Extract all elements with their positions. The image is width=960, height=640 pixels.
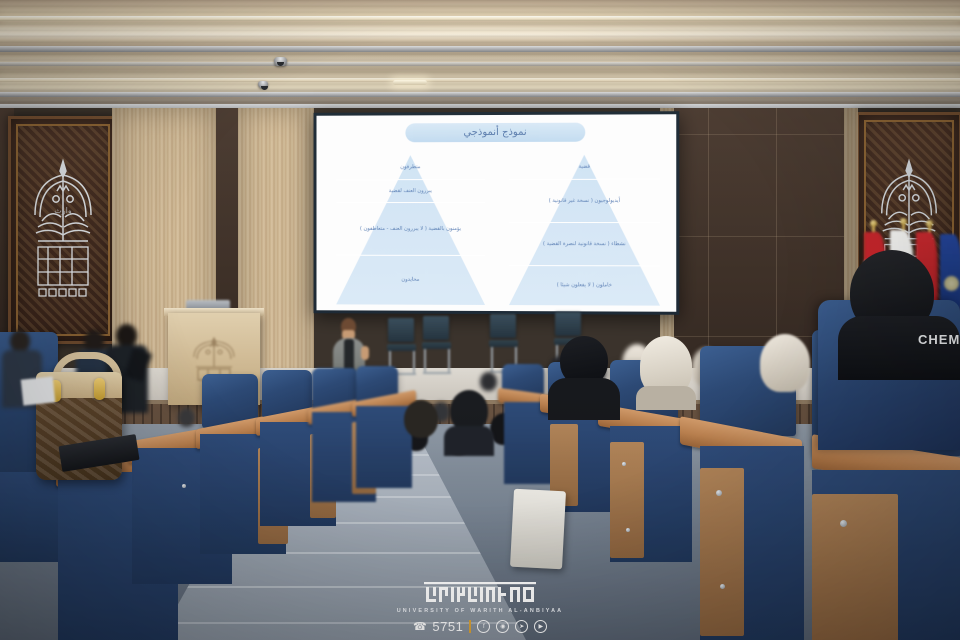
audience-person-center xyxy=(548,336,620,416)
chem-person-jacket xyxy=(838,316,960,380)
papers-on-seat xyxy=(21,376,56,405)
projection-screen: نموذج أنموذجي متطرفون يبررون العنف لقضية… xyxy=(314,111,680,315)
phone-number: 5751 xyxy=(432,619,463,634)
presenter-hand xyxy=(361,346,369,360)
audience-person-hijab-2 xyxy=(758,334,814,402)
phone-icon: ☎ xyxy=(413,620,427,633)
ceiling-spotlight xyxy=(393,80,427,85)
contact-row: ☎ 5751 f ◉ ➤ ▶ xyxy=(0,619,960,634)
youtube-icon[interactable]: ▶ xyxy=(534,620,547,633)
audience-person-left-2 xyxy=(398,400,444,456)
svg-text:وارث: وارث xyxy=(54,206,72,215)
left-pyramid: متطرفون يبررون العنف لقضية يؤمنون بالقضي… xyxy=(336,155,485,305)
ceiling-rail-2 xyxy=(0,62,960,66)
wall-emblem-panel-left: وارث xyxy=(8,116,118,344)
left-pyramid-tier-1: متطرفون xyxy=(336,155,485,179)
slide-surface: نموذج أنموذجي متطرفون يبررون العنف لقضية… xyxy=(317,114,677,312)
auditorium-photo: وارث xyxy=(0,0,960,640)
tote-bag xyxy=(510,489,566,570)
audience-person-hijab-1 xyxy=(636,336,696,406)
handbag-clasp-right xyxy=(94,378,105,400)
telegram-icon[interactable]: ➤ xyxy=(515,620,528,633)
watermark: UNIVERSITY OF WARITH AL-ANBIYAA ☎ 5751 f… xyxy=(0,582,960,634)
ceiling-rail-3 xyxy=(0,92,960,97)
audience-person-chem: CHEM xyxy=(836,250,960,380)
ceiling-camera-2 xyxy=(258,81,268,88)
facebook-icon[interactable]: f xyxy=(477,620,490,633)
university-subtitle: UNIVERSITY OF WARITH AL-ANBIYAA xyxy=(0,608,960,614)
audience-person-left-1 xyxy=(444,390,494,450)
flagpole-finial-1 xyxy=(870,220,877,227)
slide-title-pill: نموذج أنموذجي xyxy=(405,123,585,143)
left-pyramid-tier-4: محايدون xyxy=(336,256,485,305)
divider xyxy=(469,620,471,633)
jacket-text: CHEM xyxy=(918,332,960,347)
flagpole-finial-3 xyxy=(926,220,933,227)
university-emblem-left: وارث xyxy=(26,155,100,305)
right-pyramid-tier-1: قضية xyxy=(509,155,660,179)
ceiling-rail-1 xyxy=(0,46,960,52)
right-pyramid-tier-4: خاملون ( لا يفعلون شيئا ) xyxy=(509,266,660,306)
left-pyramid-tier-2: يبررون العنف لقضية xyxy=(336,180,485,202)
flagpole-finial-2 xyxy=(900,218,907,225)
ceiling-wood-slats xyxy=(0,0,960,112)
ceiling-light-strip-2 xyxy=(0,78,960,82)
left-pyramid-tier-3: يؤمنون بالقضية ( لا يبررون العنف - متعاط… xyxy=(336,203,485,255)
instagram-icon[interactable]: ◉ xyxy=(496,620,509,633)
right-pyramid: قضية أيديولوجيون ( نسخة غير قانونية ) نش… xyxy=(509,155,660,306)
ceiling-camera-1 xyxy=(274,57,287,66)
ceiling-light-strip-1 xyxy=(0,16,960,21)
right-pyramid-tier-2: أيديولوجيون ( نسخة غير قانونية ) xyxy=(509,180,660,222)
right-pyramid-tier-3: نشطاء ( نسخة قانونية لنصرة القضية ) xyxy=(509,223,660,265)
university-wordmark xyxy=(424,582,536,606)
